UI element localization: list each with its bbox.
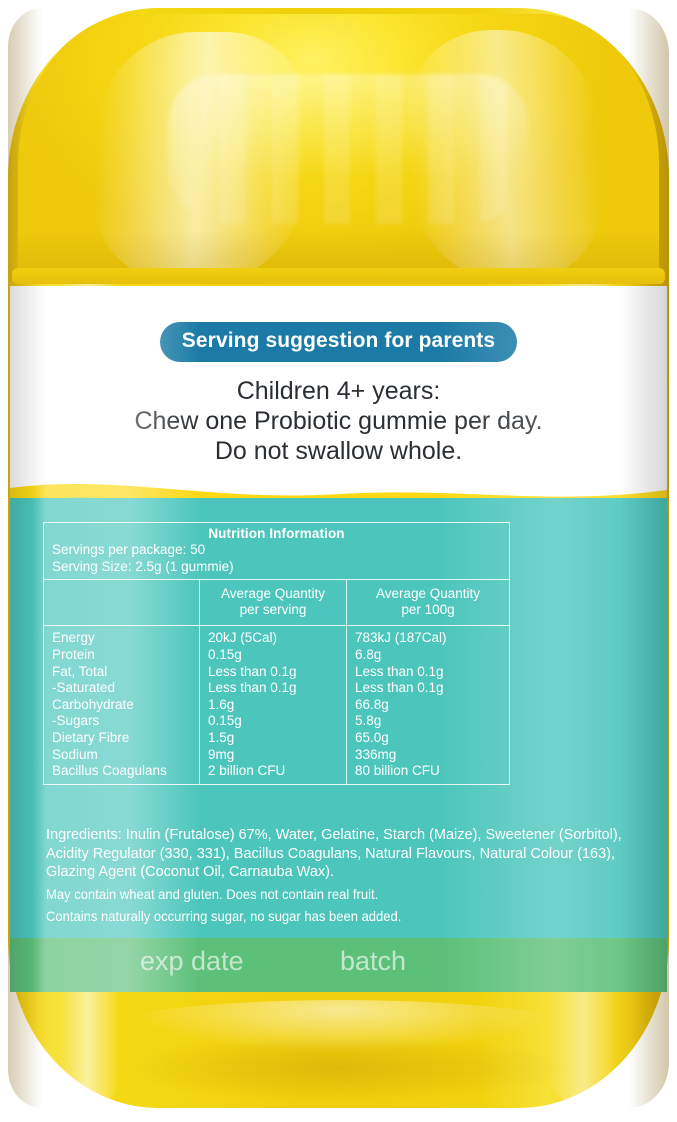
per-serving-line1: Average Quantity [204, 586, 342, 602]
per-100g-value: Less than 0.1g [355, 664, 509, 681]
sugar-note: Contains naturally occurring sugar, no s… [46, 907, 597, 926]
nutrient-name: -Sugars [52, 713, 199, 730]
nutrient-name: Fat, Total [52, 664, 199, 681]
bottle-cap [18, 14, 659, 276]
nutrient-name: -Saturated [52, 680, 199, 697]
code-imprint-area: exp date batch [10, 946, 667, 992]
nutrient-name: Energy [52, 630, 199, 647]
per-100g-value: 80 billion CFU [355, 763, 509, 780]
per-serving-value: Less than 0.1g [208, 680, 346, 697]
per-serving-value: 1.6g [208, 697, 346, 714]
bottle-bottom-shadow [20, 1040, 660, 1110]
nutrient-name: Bacillus Coagulans [52, 763, 199, 780]
serving-suggestion-text: Children 4+ years: Chew one Probiotic gu… [10, 376, 667, 466]
nutrition-serving-details: Servings per package: 50 Serving Size: 2… [44, 541, 509, 579]
per-serving-value: 9mg [208, 747, 346, 764]
per-serving-value: 0.15g [208, 647, 346, 664]
per-serving-line2: per serving [204, 602, 342, 618]
nutrition-header-blank [44, 580, 199, 625]
nutrition-header-per-100g: Average Quantity per 100g [346, 580, 509, 625]
nutrient-name-column: EnergyProteinFat, Total-SaturatedCarbohy… [44, 626, 199, 783]
product-packaging-image: Serving suggestion for parents Children … [0, 0, 677, 1122]
per-100g-value: 336mg [355, 747, 509, 764]
per-100g-value: 783kJ (187Cal) [355, 630, 509, 647]
per-100g-value: 5.8g [355, 713, 509, 730]
nutrient-name: Carbohydrate [52, 697, 199, 714]
nutrient-name: Sodium [52, 747, 199, 764]
batch-label: batch [340, 946, 406, 977]
servings-per-package: Servings per package: 50 [52, 541, 509, 558]
allergen-note: May contain wheat and gluten. Does not c… [46, 885, 597, 904]
per-100g-line2: per 100g [351, 602, 505, 618]
serving-line-1: Children 4+ years: [10, 376, 667, 406]
ingredients-text: Ingredients: Inulin (Frutalose) 67%, Wat… [46, 826, 638, 882]
per-100g-value: 66.8g [355, 697, 509, 714]
nutrient-name: Protein [52, 647, 199, 664]
nutrition-header-per-serving: Average Quantity per serving [199, 580, 346, 625]
exp-date-label: exp date [140, 946, 244, 977]
nutrition-title: Nutrition Information [44, 523, 509, 541]
per-serving-value: Less than 0.1g [208, 664, 346, 681]
per-serving-value: 2 billion CFU [208, 763, 346, 780]
per-serving-value: 0.15g [208, 713, 346, 730]
per-serving-value: 20kJ (5Cal) [208, 630, 346, 647]
per-serving-value: 1.5g [208, 730, 346, 747]
nutrition-rows: EnergyProteinFat, Total-SaturatedCarbohy… [44, 626, 509, 783]
per-100g-line1: Average Quantity [351, 586, 505, 602]
serving-size: Serving Size: 2.5g (1 gummie) [52, 558, 509, 575]
product-label: Serving suggestion for parents Children … [10, 286, 667, 992]
cap-rim [12, 268, 665, 284]
nutrient-name: Dietary Fibre [52, 730, 199, 747]
per-serving-column: 20kJ (5Cal)0.15gLess than 0.1gLess than … [199, 626, 346, 783]
nutrition-column-headers: Average Quantity per serving Average Qua… [44, 579, 509, 626]
serving-line-2: Chew one Probiotic gummie per day. [10, 406, 667, 436]
serving-suggestion-badge: Serving suggestion for parents [160, 322, 517, 362]
ingredients-section: Ingredients: Inulin (Frutalose) 67%, Wat… [46, 826, 638, 925]
serving-line-3: Do not swallow whole. [10, 436, 667, 466]
per-100g-column: 783kJ (187Cal)6.8gLess than 0.1gLess tha… [346, 626, 509, 783]
per-100g-value: Less than 0.1g [355, 680, 509, 697]
nutrition-information-panel: Nutrition Information Servings per packa… [43, 522, 510, 785]
serving-suggestion-section: Serving suggestion for parents Children … [10, 322, 667, 466]
per-100g-value: 6.8g [355, 647, 509, 664]
per-100g-value: 65.0g [355, 730, 509, 747]
